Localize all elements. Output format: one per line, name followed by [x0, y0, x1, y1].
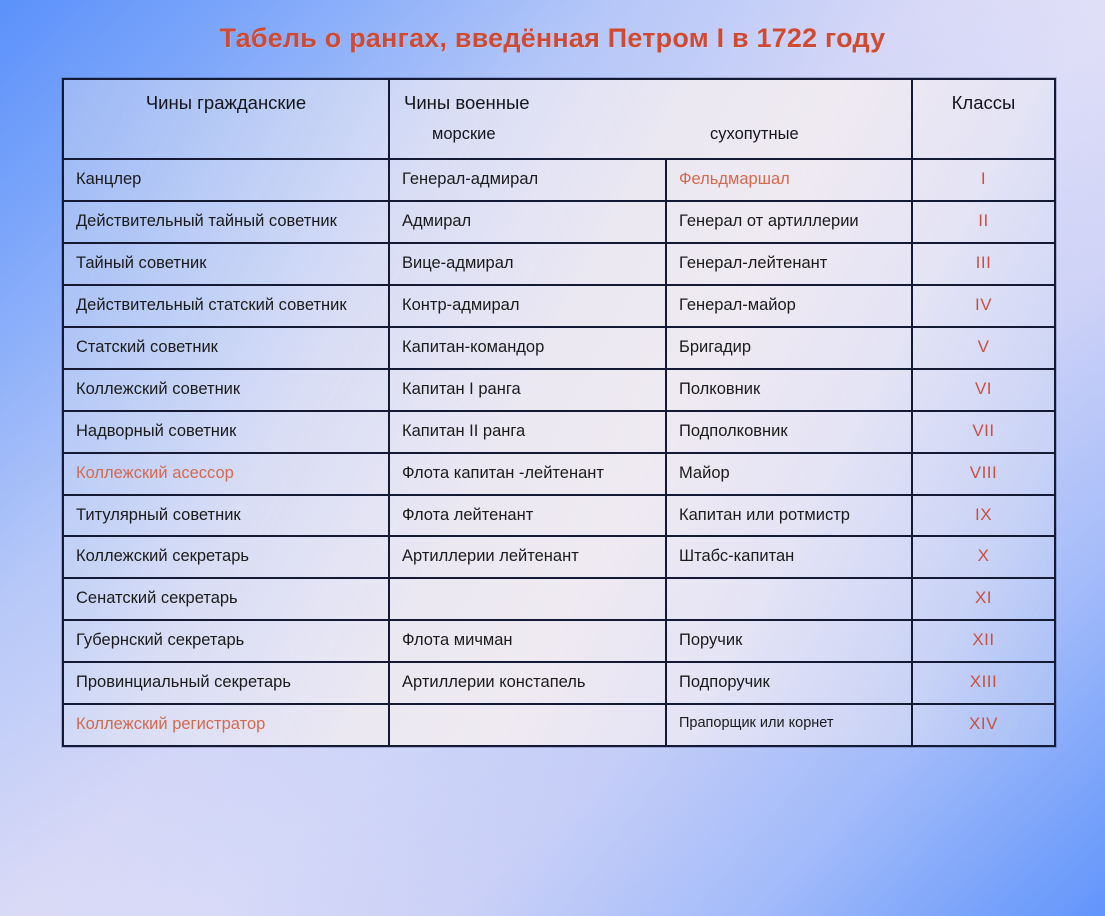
army-rank-cell: Генерал-майор: [666, 285, 912, 327]
civil-rank-cell: Действительный статский советник: [63, 285, 389, 327]
class-numeral-cell: IV: [912, 285, 1055, 327]
army-rank: Генерал-лейтенант: [667, 244, 911, 284]
army-rank: Капитан или ротмистр: [667, 496, 911, 536]
rank-table: Чины гражданские Чины военные морские су…: [62, 78, 1056, 747]
army-rank-cell: Капитан или ротмистр: [666, 495, 912, 537]
header-military-label: Чины военные: [404, 92, 530, 114]
navy-rank: [390, 579, 665, 619]
header-classes: Классы: [912, 79, 1055, 159]
army-rank-cell: Майор: [666, 453, 912, 495]
navy-rank-cell: Артиллерии констапель: [389, 662, 666, 704]
civil-rank: Действительный тайный советник: [64, 202, 388, 242]
navy-rank-cell: Вице-адмирал: [389, 243, 666, 285]
table-row: КанцлерГенерал-адмиралФельдмаршалI: [63, 159, 1055, 201]
army-rank-cell: Бригадир: [666, 327, 912, 369]
table-row: Коллежский регистраторПрапорщик или корн…: [63, 704, 1055, 746]
civil-rank: Коллежский советник: [64, 370, 388, 410]
civil-rank: Статский советник: [64, 328, 388, 368]
navy-rank: Флота капитан -лейтенант: [390, 454, 665, 494]
header-military: Чины военные морские сухопутные: [389, 79, 912, 159]
table-row: Губернский секретарьФлота мичманПоручикX…: [63, 620, 1055, 662]
civil-rank-cell: Коллежский регистратор: [63, 704, 389, 746]
navy-rank-cell: Капитан-командор: [389, 327, 666, 369]
navy-rank: Артиллерии лейтенант: [390, 537, 665, 577]
table-row: Коллежский советникКапитан I рангаПолков…: [63, 369, 1055, 411]
navy-rank: Флота мичман: [390, 621, 665, 661]
class-numeral-cell: VI: [912, 369, 1055, 411]
army-rank: Генерал-майор: [667, 286, 911, 326]
civil-rank-cell: Тайный советник: [63, 243, 389, 285]
army-rank-cell: Поручик: [666, 620, 912, 662]
navy-rank-cell: Флота мичман: [389, 620, 666, 662]
civil-rank: Губернский секретарь: [64, 621, 388, 661]
army-rank: Майор: [667, 454, 911, 494]
navy-rank: Капитан II ранга: [390, 412, 665, 452]
class-numeral-cell: VII: [912, 411, 1055, 453]
army-rank: Поручик: [667, 621, 911, 661]
civil-rank-cell: Канцлер: [63, 159, 389, 201]
civil-rank: Действительный статский советник: [64, 286, 388, 326]
army-rank-cell: Генерал от артиллерии: [666, 201, 912, 243]
header-military-land-label: сухопутные: [710, 125, 799, 144]
navy-rank: Контр-адмирал: [390, 286, 665, 326]
class-numeral-cell: XIII: [912, 662, 1055, 704]
civil-rank: Сенатский секретарь: [64, 579, 388, 619]
table-row: Титулярный советникФлота лейтенантКапита…: [63, 495, 1055, 537]
class-numeral-cell: VIII: [912, 453, 1055, 495]
header-classes-label: Классы: [913, 80, 1054, 114]
navy-rank-cell: Капитан II ранга: [389, 411, 666, 453]
civil-rank: Надворный советник: [64, 412, 388, 452]
page-title: Табель о рангах, введённая Петром I в 17…: [0, 23, 1105, 54]
civil-rank-cell: Губернский секретарь: [63, 620, 389, 662]
army-rank-cell: Подпоручик: [666, 662, 912, 704]
navy-rank-cell: Генерал-адмирал: [389, 159, 666, 201]
army-rank: [667, 579, 911, 619]
header-civil: Чины гражданские: [63, 79, 389, 159]
army-rank-cell: Фельдмаршал: [666, 159, 912, 201]
header-row: Чины гражданские Чины военные морские су…: [63, 79, 1055, 159]
class-numeral: XI: [913, 579, 1054, 617]
table-row: Действительный тайный советникАдмиралГен…: [63, 201, 1055, 243]
class-numeral-cell: V: [912, 327, 1055, 369]
army-rank: Полковник: [667, 370, 911, 410]
class-numeral-cell: II: [912, 201, 1055, 243]
civil-rank: Тайный советник: [64, 244, 388, 284]
table-body: КанцлерГенерал-адмиралФельдмаршалIДейств…: [63, 159, 1055, 746]
navy-rank: Капитан-командор: [390, 328, 665, 368]
civil-rank-cell: Коллежский советник: [63, 369, 389, 411]
civil-rank-cell: Сенатский секретарь: [63, 578, 389, 620]
class-numeral: VIII: [913, 454, 1054, 492]
class-numeral-cell: XIV: [912, 704, 1055, 746]
navy-rank: Вице-адмирал: [390, 244, 665, 284]
table-row: Коллежский секретарьАртиллерии лейтенант…: [63, 536, 1055, 578]
civil-rank-cell: Коллежский секретарь: [63, 536, 389, 578]
army-rank: Генерал от артиллерии: [667, 202, 911, 242]
class-numeral-cell: X: [912, 536, 1055, 578]
civil-rank: Канцлер: [64, 160, 388, 200]
army-rank-cell: Подполковник: [666, 411, 912, 453]
navy-rank: Адмирал: [390, 202, 665, 242]
table-row: Сенатский секретарьXI: [63, 578, 1055, 620]
navy-rank: [390, 705, 665, 745]
navy-rank: Флота лейтенант: [390, 496, 665, 536]
class-numeral: V: [913, 328, 1054, 366]
navy-rank-cell: Флота капитан -лейтенант: [389, 453, 666, 495]
civil-rank: Коллежский регистратор: [64, 705, 388, 745]
army-rank-cell: Генерал-лейтенант: [666, 243, 912, 285]
civil-rank: Провинциальный секретарь: [64, 663, 388, 703]
navy-rank-cell: Контр-адмирал: [389, 285, 666, 327]
army-rank-cell: [666, 578, 912, 620]
class-numeral: XIII: [913, 663, 1054, 701]
civil-rank: Коллежский секретарь: [64, 537, 388, 577]
army-rank: Бригадир: [667, 328, 911, 368]
navy-rank-cell: Флота лейтенант: [389, 495, 666, 537]
civil-rank-cell: Надворный советник: [63, 411, 389, 453]
navy-rank: Капитан I ранга: [390, 370, 665, 410]
navy-rank: Генерал-адмирал: [390, 160, 665, 200]
civil-rank-cell: Коллежский асессор: [63, 453, 389, 495]
table-row: Статский советникКапитан-командорБригади…: [63, 327, 1055, 369]
class-numeral: I: [913, 160, 1054, 198]
table-row: Действительный статский советникКонтр-ад…: [63, 285, 1055, 327]
navy-rank-cell: [389, 704, 666, 746]
army-rank: Фельдмаршал: [667, 160, 911, 200]
class-numeral: VI: [913, 370, 1054, 408]
class-numeral-cell: IX: [912, 495, 1055, 537]
table-row: Тайный советникВице-адмиралГенерал-лейте…: [63, 243, 1055, 285]
army-rank: Подпоручик: [667, 663, 911, 703]
army-rank: Штабс-капитан: [667, 537, 911, 577]
civil-rank-cell: Титулярный советник: [63, 495, 389, 537]
header-military-sea-label: морские: [432, 125, 496, 144]
class-numeral: II: [913, 202, 1054, 240]
class-numeral: XII: [913, 621, 1054, 659]
navy-rank-cell: Артиллерии лейтенант: [389, 536, 666, 578]
class-numeral-cell: I: [912, 159, 1055, 201]
table-row: Коллежский асессорФлота капитан -лейтена…: [63, 453, 1055, 495]
class-numeral-cell: XI: [912, 578, 1055, 620]
class-numeral: IX: [913, 496, 1054, 534]
table-row: Надворный советникКапитан II рангаПодпол…: [63, 411, 1055, 453]
civil-rank-cell: Статский советник: [63, 327, 389, 369]
army-rank: Подполковник: [667, 412, 911, 452]
class-numeral: III: [913, 244, 1054, 282]
class-numeral: IV: [913, 286, 1054, 324]
civil-rank-cell: Провинциальный секретарь: [63, 662, 389, 704]
civil-rank-cell: Действительный тайный советник: [63, 201, 389, 243]
table-row: Провинциальный секретарьАртиллерии конст…: [63, 662, 1055, 704]
army-rank-cell: Штабс-капитан: [666, 536, 912, 578]
army-rank-cell: Полковник: [666, 369, 912, 411]
class-numeral: X: [913, 537, 1054, 575]
header-civil-label: Чины гражданские: [64, 80, 388, 114]
navy-rank-cell: [389, 578, 666, 620]
civil-rank: Коллежский асессор: [64, 454, 388, 494]
navy-rank: Артиллерии констапель: [390, 663, 665, 703]
table-header: Чины гражданские Чины военные морские су…: [63, 79, 1055, 159]
civil-rank: Титулярный советник: [64, 496, 388, 536]
class-numeral: XIV: [913, 705, 1054, 743]
navy-rank-cell: Капитан I ранга: [389, 369, 666, 411]
class-numeral-cell: III: [912, 243, 1055, 285]
class-numeral: VII: [913, 412, 1054, 450]
navy-rank-cell: Адмирал: [389, 201, 666, 243]
army-rank-cell: Прапорщик или корнет: [666, 704, 912, 746]
army-rank: Прапорщик или корнет: [667, 705, 911, 742]
class-numeral-cell: XII: [912, 620, 1055, 662]
